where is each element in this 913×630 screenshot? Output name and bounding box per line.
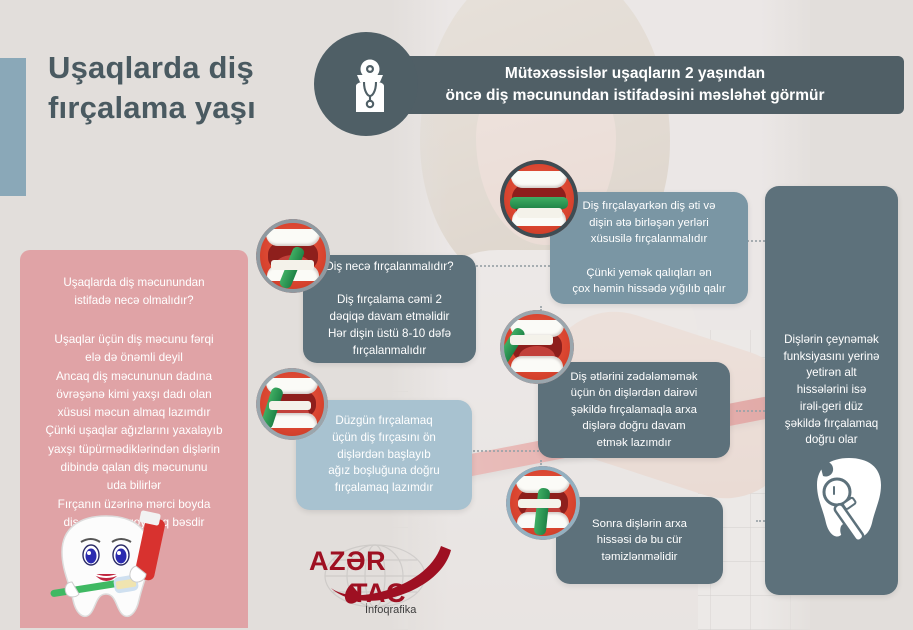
card-back-teeth: Sonra dişlərin arxa hissəsi də bu cür tə… <box>556 497 723 584</box>
connector-dotted-1 <box>476 265 554 267</box>
card-gum-line: Diş fırçalayarkən diş əti və dişin ətə b… <box>550 192 748 304</box>
header-banner: Mütəxəssislər uşaqların 2 yaşından öncə … <box>366 56 904 114</box>
card-chewing-surface-text: Dişlərin çeynəmək funksiyasını yerinə ye… <box>773 324 889 458</box>
mouth-brushing-icon-4 <box>256 368 328 440</box>
azertac-logo[interactable]: AZƏR TAC İnfoqrafika <box>303 540 471 618</box>
mouth-brushing-icon-5 <box>506 466 580 540</box>
card-gum-line-text: Diş fırçalayarkən diş əti və dişin ətə b… <box>562 190 735 305</box>
card-circular-motion: Diş ətlərini zədələməmək üçün ön dişlərd… <box>538 362 730 458</box>
connector-dotted-4 <box>470 450 542 452</box>
card-proper-brushing-text: Düzgün fırçalamaq üçün diş fırçasını ön … <box>318 405 450 505</box>
card-how-to-brush-text: Diş necə fırçalanmalıdır? Diş fırçalama … <box>315 251 463 368</box>
card-how-to-brush: Diş necə fırçalanmalıdır? Diş fırçalama … <box>303 255 476 363</box>
pink-panel-body: Uşaqlar üçün diş məcunu fərqi elə də önə… <box>30 330 238 531</box>
page-title: Uşaqlarda diş fırçalama yaşı <box>48 48 298 127</box>
logo-subtitle: İnfoqrafika <box>365 604 416 616</box>
mouth-brushing-icon-3 <box>500 310 574 384</box>
mouth-brushing-icon-1 <box>256 219 330 293</box>
mouth-brushing-icon-2 <box>500 160 578 238</box>
doctor-icon <box>347 58 393 114</box>
pink-panel-question: Uşaqlarda diş məcunundan istifadə necə o… <box>38 274 230 309</box>
tooth-magnifier-icon <box>806 452 892 556</box>
infographic-canvas: Uşaqlarda diş fırçalama yaşı Mütəxəssisl… <box>0 0 913 630</box>
card-circular-motion-text: Diş ətlərini zədələməmək üçün ön dişlərd… <box>560 361 707 460</box>
card-back-teeth-text: Sonra dişlərin arxa hissəsi də bu cür tə… <box>582 508 697 574</box>
header-text: Mütəxəssislər uşaqların 2 yaşından öncə … <box>434 63 837 107</box>
connector-dotted-3 <box>736 410 768 412</box>
logo-azer-text: AZƏR <box>309 546 386 577</box>
accent-bar <box>0 58 26 196</box>
cartoon-tooth-mascot <box>36 508 176 626</box>
